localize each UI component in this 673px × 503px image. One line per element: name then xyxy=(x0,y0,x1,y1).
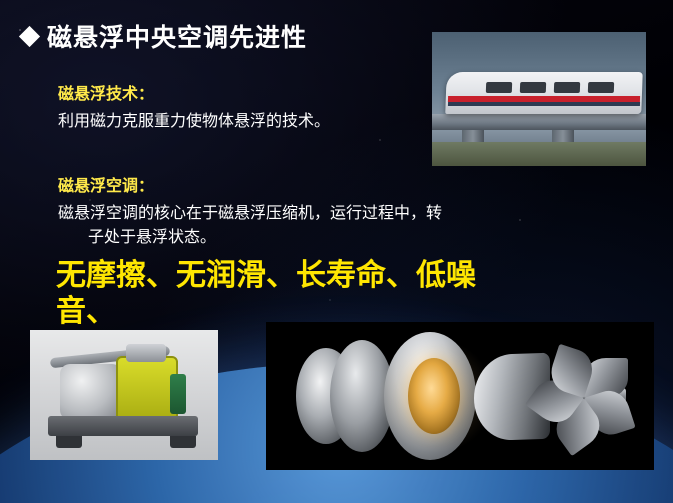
section-body-line2: 子处于悬浮状态。 xyxy=(58,226,558,250)
compressor-unit-photo xyxy=(30,330,218,460)
section-body-maglev-tech: 利用磁力克服重力使物体悬浮的技术。 xyxy=(58,110,330,134)
section-body-maglev-hvac: 磁悬浮空调的核心在于磁悬浮压缩机，运行过程中，转 子处于悬浮状态。 xyxy=(58,202,558,250)
compressor-base xyxy=(48,416,198,436)
magnetic-bearing-rotor-photo xyxy=(266,322,654,470)
page-title: 磁悬浮中央空调先进性 xyxy=(47,18,307,54)
train-nose xyxy=(440,76,480,114)
train-dark-stripe xyxy=(448,102,640,106)
impeller xyxy=(552,350,644,446)
train-window xyxy=(554,82,580,93)
train-window xyxy=(486,82,512,93)
compressor-drum xyxy=(60,364,122,420)
compressor-green-module xyxy=(170,374,186,414)
compressor-cap xyxy=(126,344,166,362)
highlight-line1: 无摩擦、无润滑、长寿命、低噪音、 xyxy=(56,259,476,328)
compressor-foot xyxy=(170,436,196,448)
slide-title-row: 磁悬浮中央空调先进性 xyxy=(22,18,307,54)
presentation-slide: 磁悬浮中央空调先进性 磁悬浮技术： 利用磁力克服重力使物体悬浮的技术。 磁悬浮空… xyxy=(0,0,673,503)
section-heading-maglev-tech: 磁悬浮技术： xyxy=(58,80,154,104)
section-heading-maglev-hvac: 磁悬浮空调： xyxy=(58,172,154,196)
train-guideway xyxy=(432,114,646,130)
section-body-line1: 磁悬浮空调的核心在于磁悬浮压缩机，运行过程中，转 xyxy=(58,205,442,222)
train-window xyxy=(588,82,614,93)
diamond-bullet-icon xyxy=(19,25,40,46)
compressor-cylinder xyxy=(116,356,178,422)
train-ground xyxy=(432,142,646,166)
train-window xyxy=(520,82,546,93)
maglev-train-photo xyxy=(432,32,646,166)
compressor-foot xyxy=(56,436,82,448)
